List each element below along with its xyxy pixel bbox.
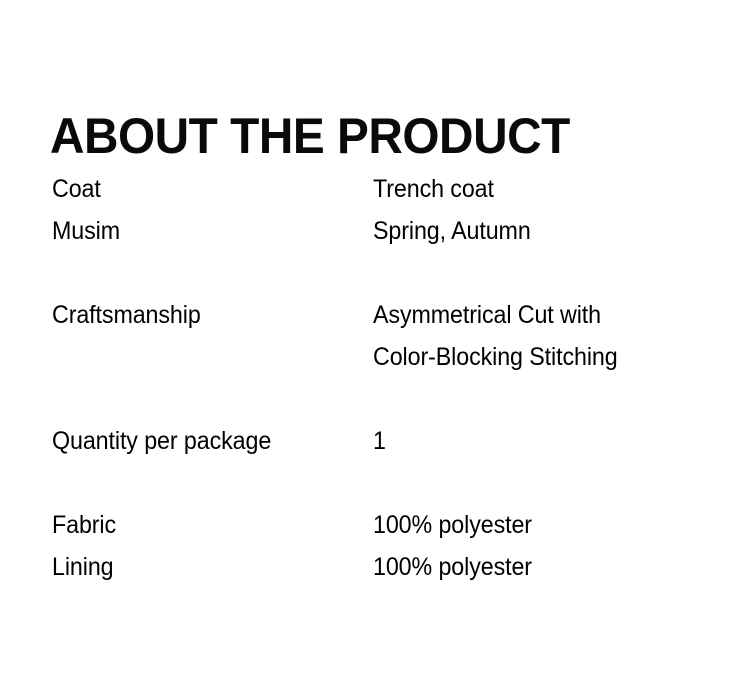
spec-row: CoatTrench coat	[52, 168, 692, 210]
spec-value: 1	[373, 420, 670, 462]
spec-row: CraftsmanshipAsymmetrical Cut withColor-…	[52, 294, 692, 378]
spec-label: Lining	[52, 546, 351, 588]
product-details-page: ABOUT THE PRODUCT CoatTrench coatMusimSp…	[0, 0, 750, 683]
spec-row: Quantity per package1	[52, 420, 692, 462]
spec-value-line: Asymmetrical Cut with	[373, 294, 670, 336]
spec-value-line: 1	[373, 420, 670, 462]
spec-value-line: Spring, Autumn	[373, 210, 670, 252]
spec-row: Lining100% polyester	[52, 546, 692, 588]
spec-value: Spring, Autumn	[373, 210, 670, 252]
spec-label: Craftsmanship	[52, 294, 351, 336]
spec-value-line: Trench coat	[373, 168, 670, 210]
spec-label: Quantity per package	[52, 420, 351, 462]
spec-label: Coat	[52, 168, 351, 210]
spec-group: CoatTrench coatMusimSpring, Autumn	[52, 168, 692, 252]
spec-label: Fabric	[52, 504, 351, 546]
spec-value: Asymmetrical Cut withColor-Blocking Stit…	[373, 294, 670, 378]
spec-group: Fabric100% polyesterLining100% polyester	[52, 504, 692, 588]
spec-value-line: Color-Blocking Stitching	[373, 336, 670, 378]
spec-group: Quantity per package1	[52, 420, 692, 462]
spec-value: 100% polyester	[373, 504, 670, 546]
spec-value: Trench coat	[373, 168, 670, 210]
spec-label: Musim	[52, 210, 351, 252]
product-spec-table: CoatTrench coatMusimSpring, AutumnCrafts…	[52, 168, 692, 588]
spec-group: CraftsmanshipAsymmetrical Cut withColor-…	[52, 294, 692, 378]
page-title: ABOUT THE PRODUCT	[50, 110, 570, 162]
spec-value-line: 100% polyester	[373, 504, 670, 546]
spec-value-line: 100% polyester	[373, 546, 670, 588]
spec-value: 100% polyester	[373, 546, 670, 588]
spec-row: Fabric100% polyester	[52, 504, 692, 546]
spec-row: MusimSpring, Autumn	[52, 210, 692, 252]
